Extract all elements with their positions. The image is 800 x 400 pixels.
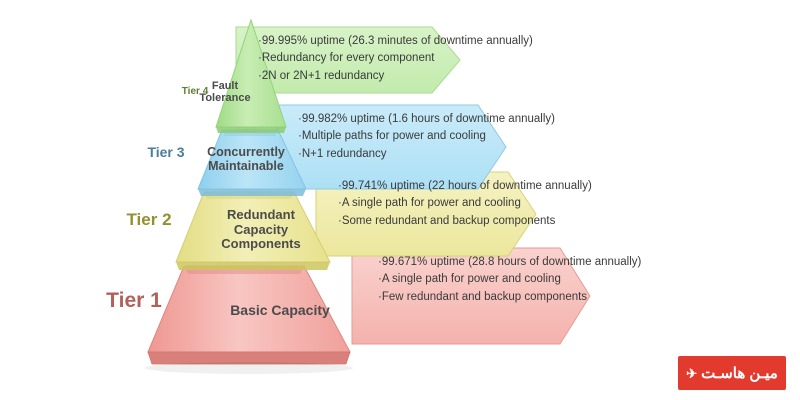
watermark-text: میـن هاسـت: [701, 364, 778, 382]
watermark-logo: میـن هاسـت ✈: [678, 356, 786, 390]
pyramid-shapes: [0, 0, 800, 400]
pyramid-block-tier2: [176, 192, 330, 270]
pyramid-block-tier1: [148, 266, 350, 364]
pyramid-diagram: Tier 4 Fault Tolerance Tier 3 Concurrent…: [0, 0, 800, 400]
base-shadow: [145, 362, 353, 374]
callout-tier3: [276, 105, 506, 189]
watermark-mark-icon: ✈: [686, 367, 697, 380]
callout-tier1: [352, 248, 590, 344]
